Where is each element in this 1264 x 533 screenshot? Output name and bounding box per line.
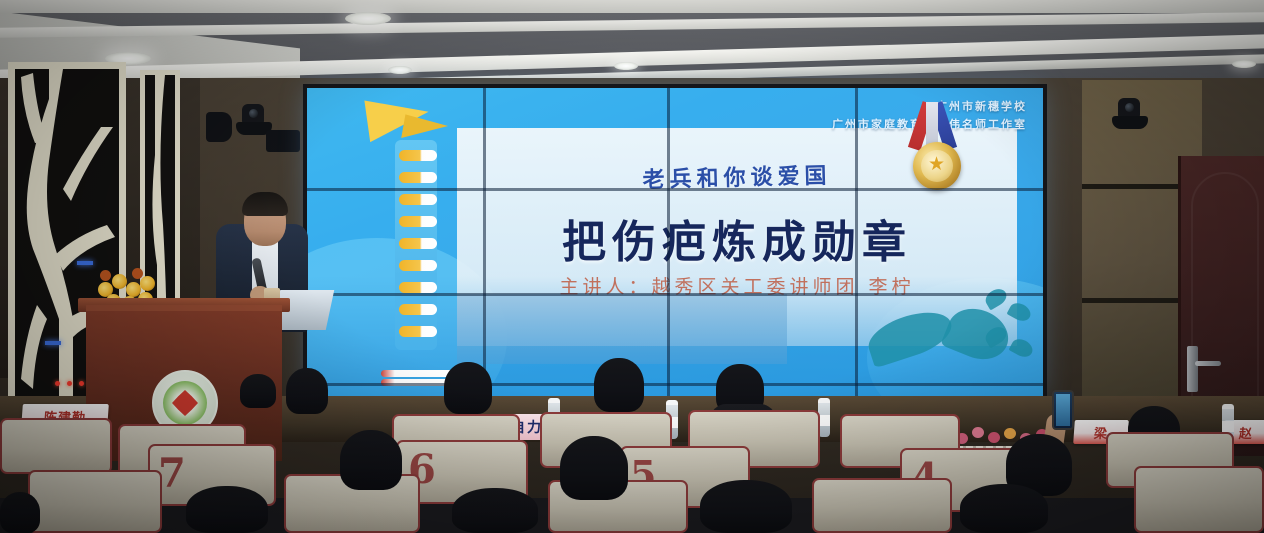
display-bezel	[855, 88, 858, 396]
audience-head	[340, 430, 402, 490]
notebook-ring	[399, 260, 437, 271]
audience-head	[240, 374, 276, 408]
video-wall-display[interactable]: 广州市新穗学校 广州市家庭教育师苗伟名师工作室	[307, 88, 1043, 396]
camera-lens-icon	[1125, 103, 1134, 112]
camera-lens-icon	[249, 109, 258, 118]
smartphone-recording	[1052, 390, 1074, 430]
rack-indicator	[77, 261, 93, 265]
sunflower	[112, 274, 127, 289]
notebook-ring	[399, 304, 437, 315]
display-bezel	[667, 88, 670, 396]
phone-screen	[1056, 394, 1070, 426]
rack-indicator	[45, 341, 61, 345]
lecture-hall-photo: 广州市新穗学校 广州市家庭教育师苗伟名师工作室	[0, 0, 1264, 533]
notebook-ring	[399, 194, 437, 205]
notebook-ring	[399, 150, 437, 161]
door-handle[interactable]	[1187, 346, 1198, 392]
flower	[988, 432, 1000, 443]
notebook-ring	[399, 326, 437, 337]
ceiling-downlight	[614, 62, 638, 70]
audience-head	[286, 368, 328, 414]
audience-head	[700, 480, 792, 533]
bottle-label	[1222, 421, 1234, 432]
ceiling-band	[0, 12, 1264, 37]
rack-led	[67, 381, 72, 386]
ceiling-band	[0, 0, 1264, 13]
sunflower-dark	[132, 268, 143, 279]
crest-knot-icon	[172, 390, 198, 416]
ceiling-downlight	[345, 12, 391, 25]
display-bezel	[483, 88, 486, 396]
sunflower-dark	[100, 270, 111, 281]
flower	[972, 427, 984, 438]
notebook-ring	[399, 238, 437, 249]
camera-mount	[1112, 116, 1148, 129]
display-bezel	[307, 188, 1043, 191]
chair-back	[28, 470, 162, 533]
audience-head	[186, 486, 268, 533]
notebook-ring	[399, 216, 437, 227]
audience-head	[560, 436, 628, 500]
audience-head	[960, 484, 1048, 533]
slide-main-title: 把伤疤炼成勋章	[457, 206, 1017, 270]
ceiling-downlight	[1232, 60, 1256, 68]
notebook-ring	[399, 172, 437, 183]
wall-speaker	[266, 130, 300, 152]
audience-head	[0, 492, 40, 533]
rack-led	[55, 381, 60, 386]
ceiling-downlight	[388, 66, 412, 74]
audience-head	[444, 362, 492, 414]
presentation-slide: 广州市新穗学校 广州市家庭教育师苗伟名师工作室	[307, 88, 1043, 396]
audience-head	[594, 358, 644, 412]
flower	[1004, 428, 1016, 439]
presenter-hair	[242, 192, 288, 216]
door-lever-icon[interactable]	[1195, 361, 1221, 366]
chair-back	[0, 418, 112, 474]
wall-speaker	[206, 112, 232, 142]
chair-back	[1134, 466, 1264, 533]
rack-led	[79, 381, 84, 386]
crest-inner	[163, 381, 207, 425]
chair-number: 7	[158, 450, 186, 497]
display-bezel	[307, 293, 1043, 296]
audience-head	[452, 488, 538, 533]
sunflower	[140, 276, 155, 291]
notebook-ring	[399, 282, 437, 293]
chair-back	[812, 478, 952, 533]
medal-ribbon-white	[926, 102, 938, 146]
display-bezel	[307, 383, 1043, 386]
